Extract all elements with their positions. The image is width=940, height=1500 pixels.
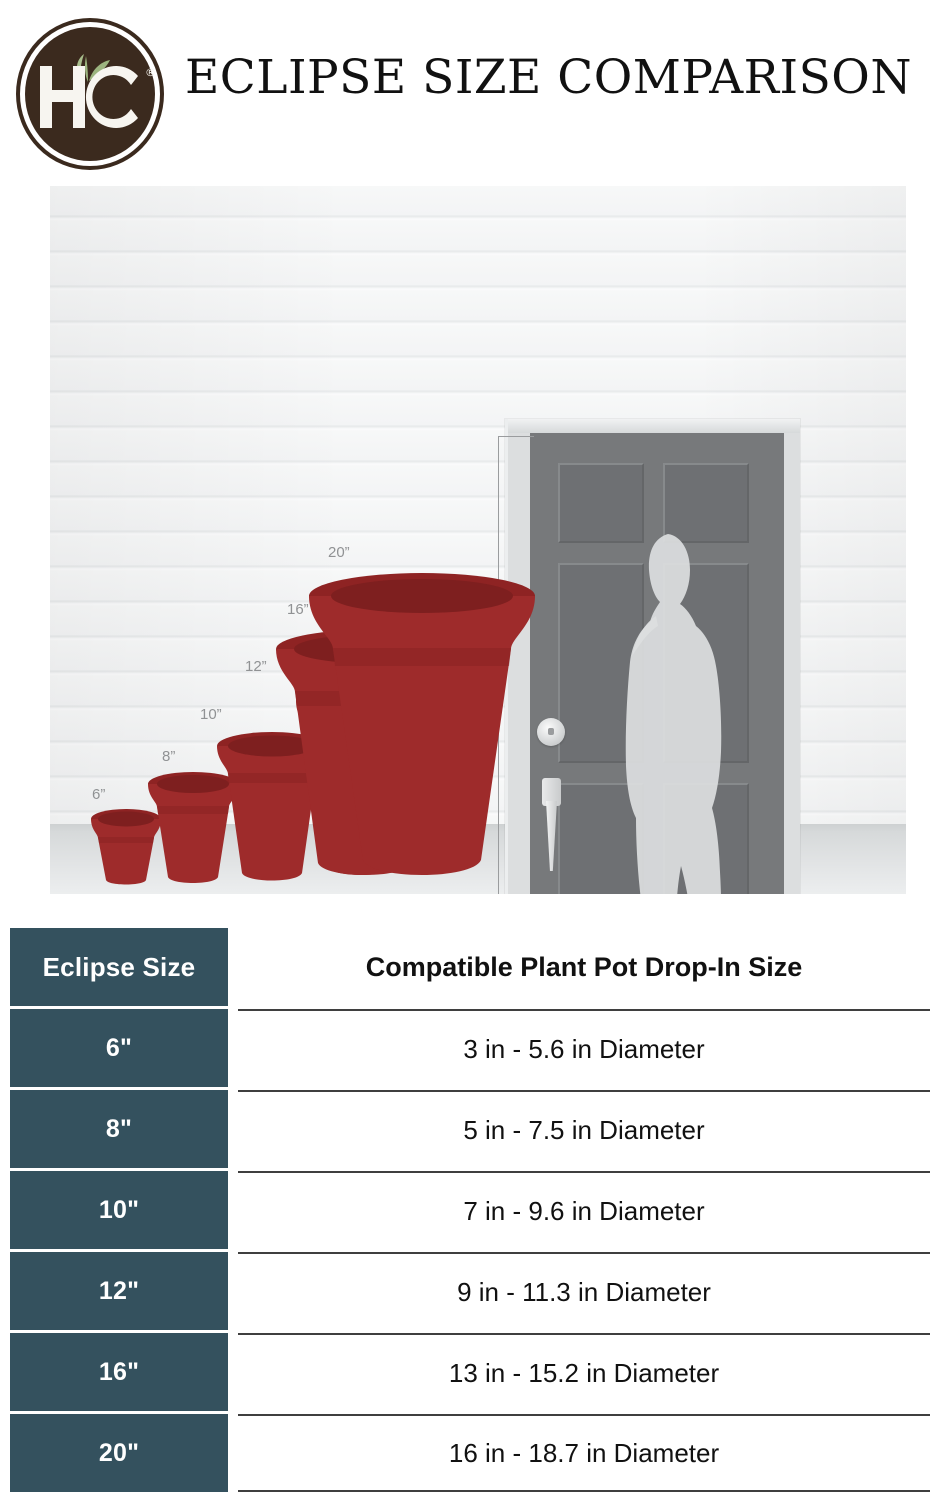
cell-drop-in-size: 3 in - 5.6 in Diameter — [238, 1009, 930, 1087]
planter-label-6in: 6” — [92, 786, 105, 803]
column-header-eclipse-size: Eclipse Size — [10, 928, 228, 1006]
cell-drop-in-size: 13 in - 15.2 in Diameter — [238, 1333, 930, 1411]
column-header-drop-in-size: Compatible Plant Pot Drop-In Size — [238, 928, 930, 1006]
person-silhouette — [610, 526, 742, 894]
size-compatibility-table: Eclipse Size Compatible Plant Pot Drop-I… — [10, 928, 930, 1495]
cell-eclipse-size: 6" — [10, 1009, 228, 1087]
measure-top-tick — [498, 436, 534, 437]
table-header-row: Eclipse Size Compatible Plant Pot Drop-I… — [10, 928, 930, 1006]
planter-label-12in: 12” — [245, 658, 267, 675]
table-row: 12" 9 in - 11.3 in Diameter — [10, 1252, 930, 1330]
table-row: 8" 5 in - 7.5 in Diameter — [10, 1090, 930, 1168]
planter-pot-20in — [308, 572, 536, 892]
cell-eclipse-size: 10" — [10, 1171, 228, 1249]
table-body: 6" 3 in - 5.6 in Diameter 8" 5 in - 7.5 … — [10, 1009, 930, 1492]
size-comparison-photo: 80” 6” 8” — [50, 186, 906, 894]
cell-drop-in-size: 5 in - 7.5 in Diameter — [238, 1090, 930, 1168]
deadbolt-lock-icon — [537, 718, 565, 746]
planter-label-16in: 16” — [287, 601, 309, 618]
planter-label-10in: 10” — [200, 706, 222, 723]
page-title: ECLIPSE SIZE COMPARISON — [185, 52, 930, 104]
cell-eclipse-size: 16" — [10, 1333, 228, 1411]
cell-eclipse-size: 20" — [10, 1414, 228, 1492]
table-row: 6" 3 in - 5.6 in Diameter — [10, 1009, 930, 1087]
planter-label-20in: 20” — [328, 544, 350, 561]
page-header: ® ECLIPSE SIZE COMPARISON — [0, 0, 940, 178]
table-row: 20" 16 in - 18.7 in Diameter — [10, 1414, 930, 1492]
table-row: 16" 13 in - 15.2 in Diameter — [10, 1333, 930, 1411]
page-root: ® ECLIPSE SIZE COMPARISON — [0, 0, 940, 1500]
table-row: 10" 7 in - 9.6 in Diameter — [10, 1171, 930, 1249]
hc-brand-logo-icon: ® — [14, 18, 166, 170]
cell-drop-in-size: 7 in - 9.6 in Diameter — [238, 1171, 930, 1249]
cell-eclipse-size: 8" — [10, 1090, 228, 1168]
cell-eclipse-size: 12" — [10, 1252, 228, 1330]
door-handle-lever — [546, 801, 557, 871]
svg-text:®: ® — [145, 66, 156, 79]
cell-drop-in-size: 9 in - 11.3 in Diameter — [238, 1252, 930, 1330]
cell-drop-in-size: 16 in - 18.7 in Diameter — [238, 1414, 930, 1492]
planter-label-8in: 8” — [162, 748, 175, 765]
